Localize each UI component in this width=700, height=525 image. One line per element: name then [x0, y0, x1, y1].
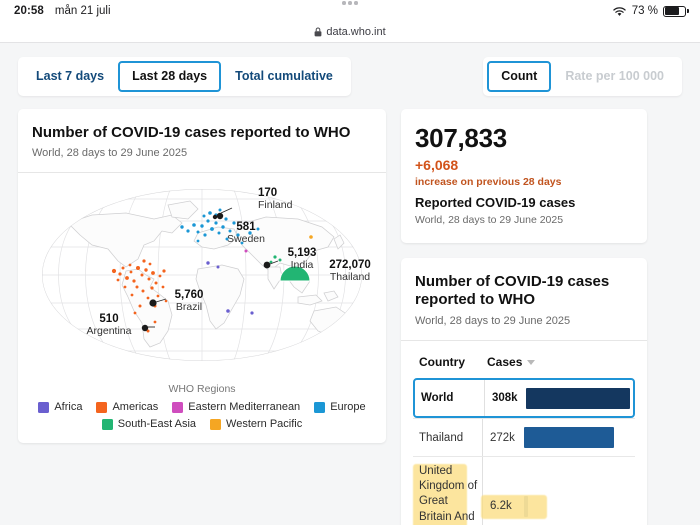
row-bar-world — [526, 388, 630, 409]
map-label-brazil: 5,760 Brazil — [158, 289, 220, 313]
sort-descending-caret-icon[interactable] — [527, 360, 535, 365]
legend-swatch-western-pacific — [210, 419, 221, 430]
country-table: Country Cases World — [401, 341, 647, 525]
table-header-row: Country Cases — [413, 355, 635, 378]
delta-value: +6,068 — [415, 158, 633, 172]
column-header-cases[interactable]: Cases — [487, 355, 535, 369]
battery-icon — [663, 6, 686, 17]
row-country-world: World — [415, 380, 485, 416]
legend-swatch-eastern-mediterranean — [172, 402, 183, 413]
map-card-title: Number of COVID-19 cases reported to WHO — [32, 124, 372, 143]
lock-icon — [314, 27, 322, 37]
table-card-header: Number of COVID-19 cases reported to WHO… — [401, 258, 647, 341]
table-row[interactable]: World 308k — [413, 378, 635, 418]
world-map[interactable]: 170 Finland 581 Sweden 5,193 India 272,0… — [18, 173, 386, 379]
who-dashboard-page: Last 7 days Last 28 days Total cumulativ… — [0, 43, 700, 525]
legend-item-western-pacific[interactable]: Western Pacific — [210, 418, 302, 430]
map-card-subtitle: World, 28 days to 29 June 2025 — [32, 147, 372, 159]
map-card: Number of COVID-19 cases reported to WHO… — [18, 109, 386, 444]
country-table-inner: Country Cases World — [401, 341, 647, 525]
legend-item-europe[interactable]: Europe — [314, 401, 365, 413]
metric-name: Reported COVID-19 cases — [415, 195, 633, 210]
delta-label: increase on previous 28 days — [415, 176, 633, 188]
legend-swatch-americas — [96, 402, 107, 413]
table-card-title: Number of COVID-19 cases reported to WHO — [415, 273, 633, 311]
tab-overview-dots — [0, 1, 700, 5]
table-row[interactable]: United Kingdom of Great Britain And Nort… — [413, 456, 635, 525]
row-country-thailand: Thailand — [413, 419, 483, 456]
tab-last-7-days[interactable]: Last 7 days — [22, 61, 118, 92]
dashboard-columns: Number of COVID-19 cases reported to WHO… — [18, 109, 682, 525]
legend-row-1: Africa Americas Eastern Mediterranean — [28, 401, 376, 413]
column-header-cases-label: Cases — [487, 355, 522, 369]
map-label-thailand: 272,070 Thailand — [314, 259, 386, 283]
map-label-argentina: 510 Argentina — [76, 313, 142, 337]
map-column: Number of COVID-19 cases reported to WHO… — [18, 109, 386, 444]
summary-stat-card: 307,833 +6,068 increase on previous 28 d… — [401, 109, 647, 243]
measure-segmented-control: Count Rate per 100 000 — [483, 57, 682, 96]
status-date: mån 21 juli — [55, 5, 111, 17]
legend-item-south-east-asia[interactable]: South-East Asia — [102, 418, 196, 430]
dashboard-toolbar: Last 7 days Last 28 days Total cumulativ… — [18, 57, 682, 96]
tab-count[interactable]: Count — [487, 61, 551, 92]
table-card-subtitle: World, 28 days to 29 June 2025 — [415, 315, 633, 327]
more-dots-icon — [342, 1, 358, 5]
legend-item-eastern-mediterranean[interactable]: Eastern Mediterranean — [172, 401, 300, 413]
legend-row-2: South-East Asia Western Pacific — [28, 418, 376, 430]
legend-swatch-south-east-asia — [102, 419, 113, 430]
status-left: 20:58 mån 21 juli — [14, 5, 111, 17]
row-cases-united-kingdom: 6.2k — [483, 457, 635, 525]
country-table-card: Number of COVID-19 cases reported to WHO… — [401, 258, 647, 525]
column-header-country[interactable]: Country — [419, 355, 487, 369]
browser-address-bar[interactable]: data.who.int — [0, 22, 700, 42]
row-bar-united-kingdom — [524, 496, 528, 517]
legend-item-americas[interactable]: Americas — [96, 401, 158, 413]
tab-last-28-days[interactable]: Last 28 days — [118, 61, 221, 92]
wifi-icon — [612, 6, 627, 17]
status-right: 73 % — [612, 5, 686, 17]
legend-swatch-africa — [38, 402, 49, 413]
tab-rate-per-100000[interactable]: Rate per 100 000 — [551, 61, 678, 92]
row-bar-thailand — [524, 427, 614, 448]
map-legend: WHO Regions Africa Americas Eastern M — [18, 379, 386, 443]
row-cases-thailand: 272k — [483, 419, 635, 456]
period-segmented-control: Last 7 days Last 28 days Total cumulativ… — [18, 57, 351, 96]
stats-column: 307,833 +6,068 increase on previous 28 d… — [401, 109, 647, 525]
metric-subtitle: World, 28 days to 29 June 2025 — [415, 214, 633, 226]
ipad-status-bar: 20:58 mån 21 juli 73 % — [0, 0, 700, 22]
map-label-finland: 170 Finland — [258, 187, 292, 211]
map-card-header: Number of COVID-19 cases reported to WHO… — [18, 109, 386, 173]
map-label-sweden: 581 Sweden — [214, 221, 278, 245]
table-row[interactable]: Thailand 272k — [413, 418, 635, 456]
total-cases-value: 307,833 — [415, 125, 633, 151]
legend-title: WHO Regions — [28, 383, 376, 395]
tab-total-cumulative[interactable]: Total cumulative — [221, 61, 347, 92]
status-time: 20:58 — [14, 5, 44, 17]
row-cases-world: 308k — [485, 380, 633, 416]
legend-item-africa[interactable]: Africa — [38, 401, 82, 413]
legend-swatch-europe — [314, 402, 325, 413]
battery-percent-label: 73 % — [632, 5, 658, 17]
url-text: data.who.int — [326, 26, 385, 38]
row-country-united-kingdom: United Kingdom of Great Britain And Nort… — [413, 457, 483, 525]
summary-stat-body: 307,833 +6,068 increase on previous 28 d… — [401, 109, 647, 243]
